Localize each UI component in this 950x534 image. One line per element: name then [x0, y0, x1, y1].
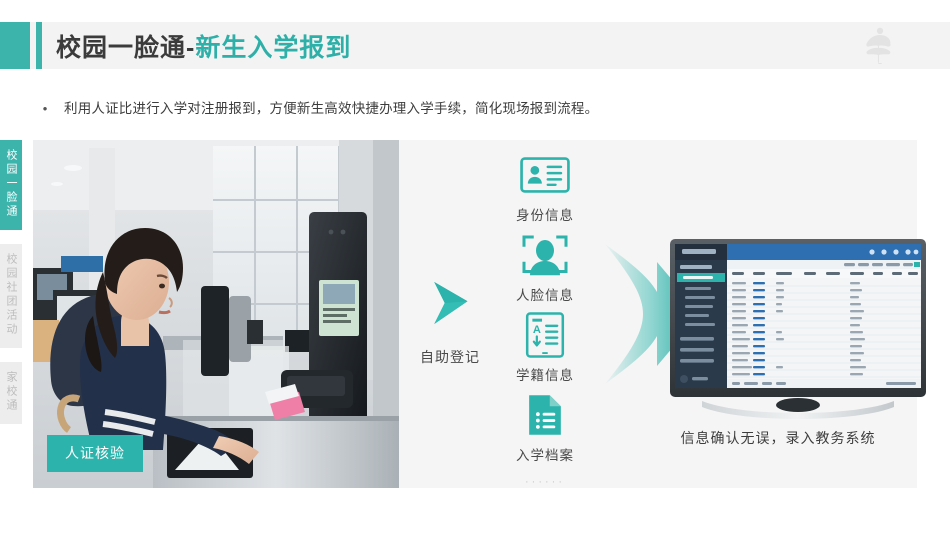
flow-label-identity: 身份信息 — [485, 204, 605, 224]
svg-text:A: A — [533, 324, 541, 336]
bullet-text: 利用人证比进行入学对注册报到，方便新生高效快捷办理入学手续，简化现场报到流程。 — [64, 99, 598, 119]
photo-badge: 人证核验 — [47, 435, 143, 472]
flow-icon-column: 身份信息 人脸信息 — [485, 152, 605, 488]
bullet-marker: • — [40, 99, 50, 119]
flow-more-dots: ······ — [485, 476, 605, 488]
flow-item-identity: 身份信息 — [485, 152, 605, 224]
header-accent-bar — [36, 22, 42, 69]
flow-label-face: 人脸信息 — [485, 284, 605, 304]
result-monitor — [658, 235, 938, 425]
kiosk-photo: 人证核验 — [33, 140, 399, 488]
id-card-icon — [485, 152, 605, 198]
flow-label-archive: 入学档案 — [485, 444, 605, 464]
flow-item-archive: 入学档案 — [485, 392, 605, 464]
result-caption: 信息确认无误，录入教务系统 — [633, 428, 923, 448]
page-title-accent: 新生入学报到 — [195, 34, 351, 62]
tree-logo-icon — [858, 24, 902, 68]
student-record-icon: A — [485, 312, 605, 358]
flow-item-face: 人脸信息 — [485, 232, 605, 304]
slide-header: 校园一脸通-新生入学报到 — [0, 22, 950, 69]
sidebar-item-home-school[interactable]: 家校通 — [0, 362, 22, 424]
flow-item-student-record: A 学籍信息 — [485, 312, 605, 384]
page-title-main: 校园一脸通 — [56, 34, 186, 62]
arrow-play-icon — [407, 275, 493, 337]
page-title-separator: - — [186, 34, 195, 62]
file-list-icon — [485, 392, 605, 438]
page-title: 校园一脸通-新生入学报到 — [56, 28, 351, 64]
sidebar-item-campus-face[interactable]: 校园一脸通 — [0, 140, 22, 230]
sidebar-item-club-activity[interactable]: 校园社团活动 — [0, 244, 22, 348]
bullet-row: • 利用人证比进行入学对注册报到，方便新生高效快捷办理入学手续，简化现场报到流程… — [40, 99, 660, 119]
flow-label-student-record: 学籍信息 — [485, 364, 605, 384]
header-accent-block — [0, 22, 30, 69]
sidebar-divider-1 — [0, 230, 22, 244]
self-register-label: 自助登记 — [407, 347, 493, 367]
self-register-step: 自助登记 — [407, 275, 493, 367]
sidebar-nav: 校园一脸通 校园社团活动 家校通 — [0, 140, 22, 424]
face-scan-icon — [485, 232, 605, 278]
content-stage: 人证核验 自助登记 — [33, 140, 917, 488]
sidebar-divider-2 — [0, 348, 22, 362]
slide-root: 校园一脸通-新生入学报到 • 利用人证比进行入学对注册报到，方便新生高效快捷办理… — [0, 0, 950, 534]
